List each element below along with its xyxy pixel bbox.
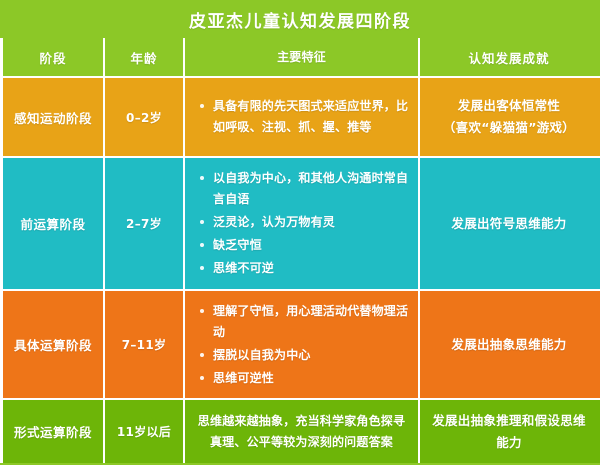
table-row: 前运算阶段 2–7岁 以自我为中心，和其他人沟通时常自言自语 泛灵论，认为万物有… [0,158,600,291]
stage-label: 形式运算阶段 [14,422,92,441]
stage-cell: 感知运动阶段 [3,78,105,156]
bullet-icon [200,243,204,247]
features-cell: 理解了守恒，用心理活动代替物理活动 摆脱以自我为中心 思维可逆性 [185,291,420,398]
list-item-text: 泛灵论，认为万物有灵 [213,215,335,229]
achievement-note: （喜欢“躲猫猫”游戏） [428,117,590,139]
age-cell: 0–2岁 [105,78,185,156]
bullet-icon [200,376,204,380]
column-header-features-label: 主要特征 [197,47,406,68]
column-header-achievement: 认知发展成就 [420,38,598,76]
age-cell: 2–7岁 [105,158,185,289]
table-row: 形式运算阶段 11岁以后 思维越来越抽象，充当科学家角色探寻真理、公平等较为深刻… [0,400,600,463]
bullet-icon [200,104,204,108]
page-title: 皮亚杰儿童认知发展四阶段 [189,7,411,32]
features-cell: 以自我为中心，和其他人沟通时常自言自语 泛灵论，认为万物有灵 缺乏守恒 思维不可… [185,158,420,289]
stage-cell: 具体运算阶段 [3,291,105,398]
achievement-cell: 发展出抽象思维能力 [420,291,598,398]
bullet-icon [200,176,204,180]
achievement-cell: 发展出客体恒常性 （喜欢“躲猫猫”游戏） [420,78,598,156]
age-label: 0–2岁 [126,109,162,126]
age-label: 2–7岁 [126,215,162,232]
list-item: 具备有限的先天图式来适应世界，比如呼吸、注视、抓、握、推等 [199,96,410,138]
list-item-text: 思维可逆性 [213,371,274,385]
list-item: 摆脱以自我为中心 [199,345,410,366]
bullet-icon [200,220,204,224]
achievement-main: 发展出抽象推理和假设思维能力 [428,410,590,454]
age-cell: 11岁以后 [105,400,185,463]
features-cell: 思维越来越抽象，充当科学家角色探寻真理、公平等较为深刻的问题答案 [185,400,420,463]
column-header-stage: 阶段 [3,38,105,76]
list-item-text: 缺乏守恒 [213,238,262,252]
stage-label: 具体运算阶段 [14,335,92,354]
piaget-stages-infographic: 皮亚杰儿童认知发展四阶段 阶段 年龄 主要特征 认知发展成就 感知运动阶段 0–… [0,0,600,465]
list-item-text: 具备有限的先天图式来适应世界，比如呼吸、注视、抓、握、推等 [213,99,408,134]
features-list: 理解了守恒，用心理活动代替物理活动 摆脱以自我为中心 思维可逆性 [199,299,410,391]
bullet-icon [200,309,204,313]
list-item-text: 理解了守恒，用心理活动代替物理活动 [213,304,408,339]
bullet-icon [200,266,204,270]
list-item: 以自我为中心，和其他人沟通时常自言自语 [199,168,410,210]
table-header-row: 阶段 年龄 主要特征 认知发展成就 [0,38,600,78]
stage-label: 感知运动阶段 [14,108,92,127]
stage-cell: 前运算阶段 [3,158,105,289]
list-item: 理解了守恒，用心理活动代替物理活动 [199,301,410,343]
list-item-text: 思维不可逆 [213,261,274,275]
stage-cell: 形式运算阶段 [3,400,105,463]
achievement-text: 发展出抽象推理和假设思维能力 [420,410,598,454]
features-list: 具备有限的先天图式来适应世界，比如呼吸、注视、抓、握、推等 [199,94,410,140]
list-item: 思维不可逆 [199,258,410,279]
column-header-features: 主要特征 [185,38,420,76]
table-row: 具体运算阶段 7–11岁 理解了守恒，用心理活动代替物理活动 摆脱以自我为中心 … [0,291,600,400]
achievement-text: 发展出符号思维能力 [420,213,598,235]
list-item: 思维可逆性 [199,368,410,389]
list-item: 泛灵论，认为万物有灵 [199,212,410,233]
features-list: 以自我为中心，和其他人沟通时常自言自语 泛灵论，认为万物有灵 缺乏守恒 思维不可… [199,166,410,281]
achievement-main: 发展出抽象思维能力 [428,334,590,356]
list-item-text: 以自我为中心，和其他人沟通时常自言自语 [213,171,408,206]
achievement-main: 发展出符号思维能力 [428,213,590,235]
table-row: 感知运动阶段 0–2岁 具备有限的先天图式来适应世界，比如呼吸、注视、抓、握、推… [0,78,600,158]
achievement-cell: 发展出抽象推理和假设思维能力 [420,400,598,463]
list-item-text: 摆脱以自我为中心 [213,348,311,362]
achievement-text: 发展出客体恒常性 （喜欢“躲猫猫”游戏） [420,95,598,139]
stage-label: 前运算阶段 [20,214,85,233]
bullet-icon [200,353,204,357]
features-text: 思维越来越抽象，充当科学家角色探寻真理、公平等较为深刻的问题答案 [197,411,406,453]
achievement-text: 发展出抽象思维能力 [420,334,598,356]
column-header-age: 年龄 [105,38,185,76]
title-bar: 皮亚杰儿童认知发展四阶段 [0,0,600,38]
achievement-cell: 发展出符号思维能力 [420,158,598,289]
age-label: 11岁以后 [117,423,171,440]
list-item: 缺乏守恒 [199,235,410,256]
age-cell: 7–11岁 [105,291,185,398]
age-label: 7–11岁 [122,336,167,353]
features-cell: 具备有限的先天图式来适应世界，比如呼吸、注视、抓、握、推等 [185,78,420,156]
achievement-main: 发展出客体恒常性 [428,95,590,117]
